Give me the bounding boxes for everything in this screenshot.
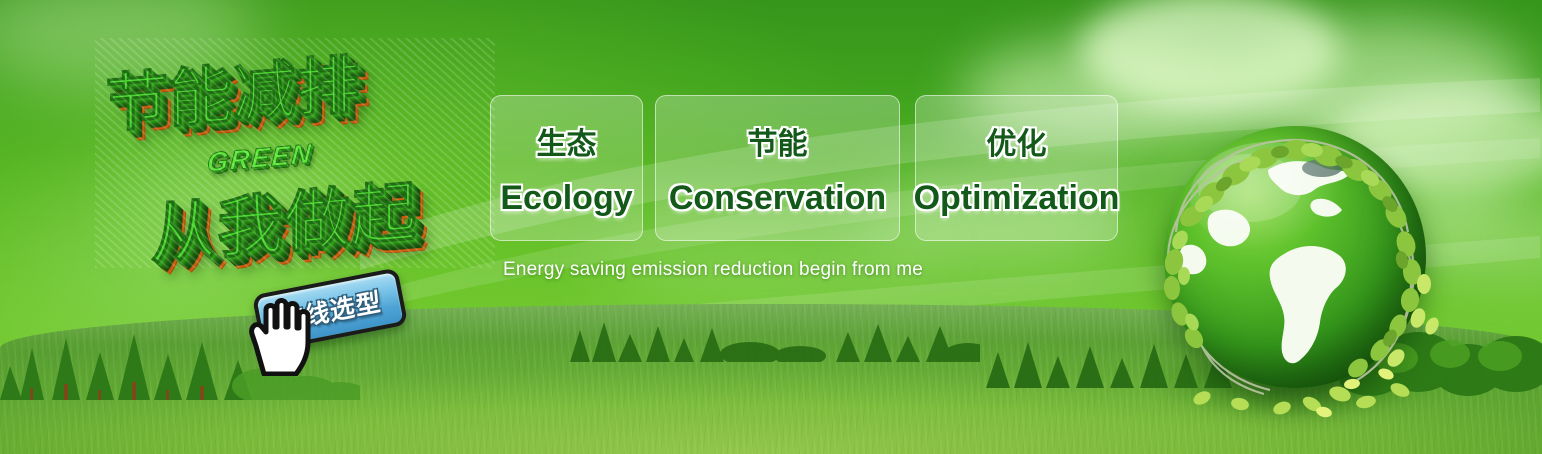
globe-sphere [1164, 126, 1426, 388]
feature-box-conservation-cn: 节能 [748, 119, 808, 163]
feature-box-conservation-en: Conservation [669, 179, 886, 218]
globe-specular-highlight [1190, 142, 1347, 252]
feature-box-ecology-en: Ecology [500, 179, 632, 218]
green-promo-banner: 节能减排 GREEN 从我做起 生态 Ecology 节能 Conservati… [0, 0, 1542, 454]
feature-box-optimization-en: Optimization [914, 179, 1120, 218]
feature-box-ecology[interactable]: 生态 Ecology [490, 95, 643, 241]
pine-treeline-icon [560, 316, 980, 386]
feature-box-ecology-cn: 生态 [537, 119, 597, 163]
pointing-hand-cursor-icon [246, 296, 322, 376]
feature-box-conservation[interactable]: 节能 Conservation [655, 95, 900, 241]
headline-line-1: 节能减排 [105, 34, 361, 145]
online-selection-cta[interactable]: 在线选型 [252, 276, 427, 358]
feature-box-optimization-cn: 优化 [987, 119, 1047, 163]
tagline: Energy saving emission reduction begin f… [503, 259, 923, 281]
leafy-green-globe-icon [1148, 120, 1438, 420]
feature-box-optimization[interactable]: 优化 Optimization [915, 95, 1118, 241]
headline-artwork: 节能减排 GREEN 从我做起 [95, 38, 495, 268]
cloud-icon [1080, 0, 1340, 110]
headline-line-2: 从我做起 [151, 158, 418, 278]
